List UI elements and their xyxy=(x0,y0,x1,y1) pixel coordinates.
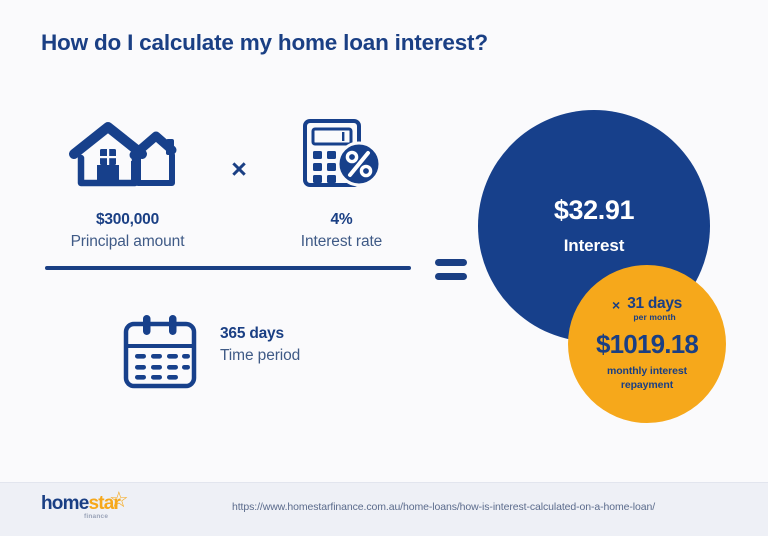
monthly-days-group: 31 days per month xyxy=(627,296,682,322)
monthly-caption-line1: monthly interest xyxy=(607,364,687,378)
monthly-caption-line2: repayment xyxy=(621,378,673,392)
equals-bar-top xyxy=(435,259,467,266)
source-url[interactable]: https://www.homestarfinance.com.au/home-… xyxy=(232,501,655,513)
house-icon xyxy=(40,113,215,193)
homestar-logo[interactable]: home star ☆ finance xyxy=(41,494,141,526)
principal-label: Principal amount xyxy=(40,233,215,251)
fraction-divider xyxy=(45,266,411,270)
time-period-text: 365 days Time period xyxy=(220,325,300,365)
logo-tagline: finance xyxy=(84,513,108,520)
footer-bar: home star ☆ finance https://www.homestar… xyxy=(0,482,768,536)
time-period-label: Time period xyxy=(220,347,300,365)
monthly-multiply-icon: × xyxy=(612,296,620,312)
principal-item: $300,000 Principal amount xyxy=(40,113,215,251)
interest-rate-label: Interest rate xyxy=(258,233,425,251)
monthly-days-value: 31 days xyxy=(627,296,682,312)
interest-caption: Interest xyxy=(564,236,625,256)
monthly-repayment-circle: × 31 days per month $1019.18 monthly int… xyxy=(568,265,726,423)
calculator-percent-icon xyxy=(258,113,425,193)
monthly-per-month-label: per month xyxy=(627,313,682,322)
time-period-item: 365 days Time period xyxy=(110,303,400,403)
interest-rate-item: 4% Interest rate xyxy=(258,113,425,251)
infographic-page: How do I calculate my home loan interest… xyxy=(0,0,768,536)
principal-value: $300,000 xyxy=(40,211,215,229)
star-icon: ☆ xyxy=(109,489,129,511)
multiply-operator-icon: × xyxy=(222,152,256,186)
logo-home-text: home xyxy=(41,494,88,513)
time-period-value: 365 days xyxy=(220,325,300,343)
interest-amount: $32.91 xyxy=(554,197,634,224)
monthly-repayment-amount: $1019.18 xyxy=(596,331,698,357)
calendar-icon xyxy=(118,311,202,398)
equals-operator-icon xyxy=(435,259,471,289)
formula-area: $300,000 Principal amount × xyxy=(0,0,470,470)
monthly-days-row: × 31 days per month xyxy=(612,296,682,322)
interest-rate-value: 4% xyxy=(258,211,425,229)
equals-bar-bottom xyxy=(435,273,467,280)
